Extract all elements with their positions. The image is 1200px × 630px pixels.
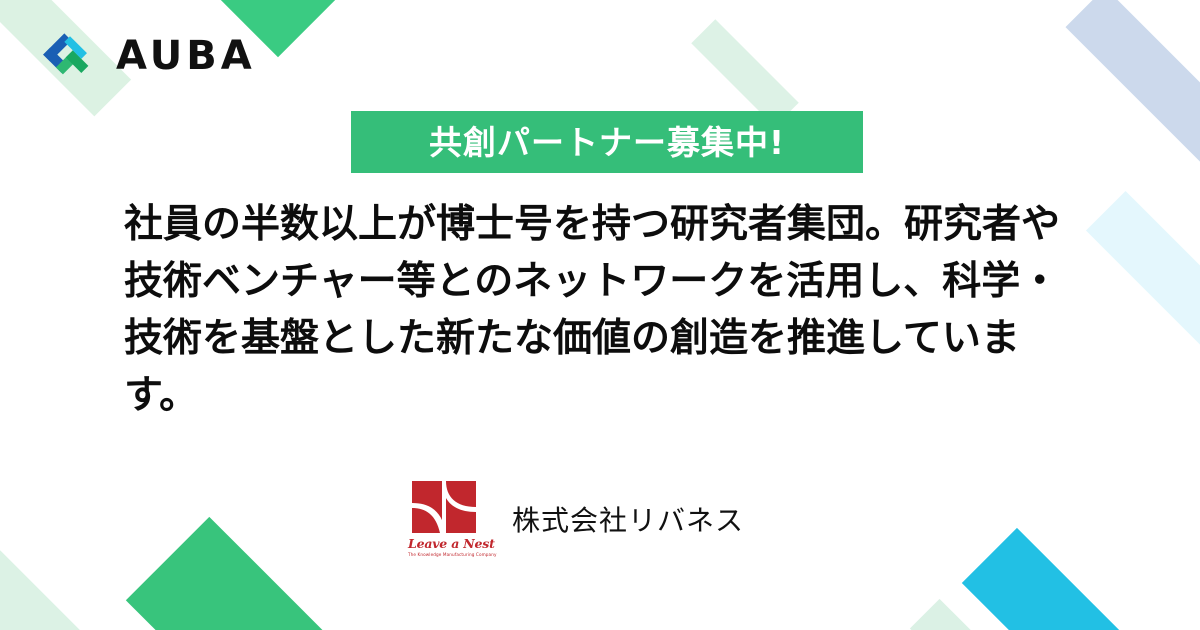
deco-pale-green-bar-bottom-left: [0, 470, 154, 630]
deco-cyan-bar-bottom-right: [962, 528, 1200, 630]
deco-pale-green-bar-bottom-right: [910, 599, 1102, 630]
leave-a-nest-tagline: The Knowledge Manufacturing Company: [408, 552, 497, 557]
leave-a-nest-logo-icon: Leave a Nest The Knowledge Manufacturing…: [408, 481, 482, 557]
deco-pale-green-wedge-bottom-left: [0, 582, 39, 630]
leave-a-nest-mark-icon: [412, 481, 476, 533]
recruiting-banner-label: 共創パートナー募集中!: [429, 126, 785, 159]
auba-brand-header: AUBA: [42, 28, 256, 84]
deco-blue-grey-bar-top-right: [1065, 0, 1200, 169]
leave-a-nest-wordmark: Leave a Nest: [408, 536, 495, 551]
auba-wordmark: AUBA: [116, 36, 256, 76]
company-footer: Leave a Nest The Knowledge Manufacturing…: [404, 477, 752, 561]
deco-pale-cyan-bar-right: [1086, 191, 1200, 379]
share-card: AUBA 共創パートナー募集中! 社員の半数以上が博士号を持つ研究者集団。研究者…: [0, 0, 1200, 630]
auba-logo-icon: [42, 28, 98, 84]
company-name: 株式会社リバネス: [512, 499, 744, 539]
recruiting-banner: 共創パートナー募集中!: [351, 111, 863, 173]
company-description: 社員の半数以上が博士号を持つ研究者集団。研究者や技術ベンチャー等とのネットワーク…: [124, 196, 1076, 424]
